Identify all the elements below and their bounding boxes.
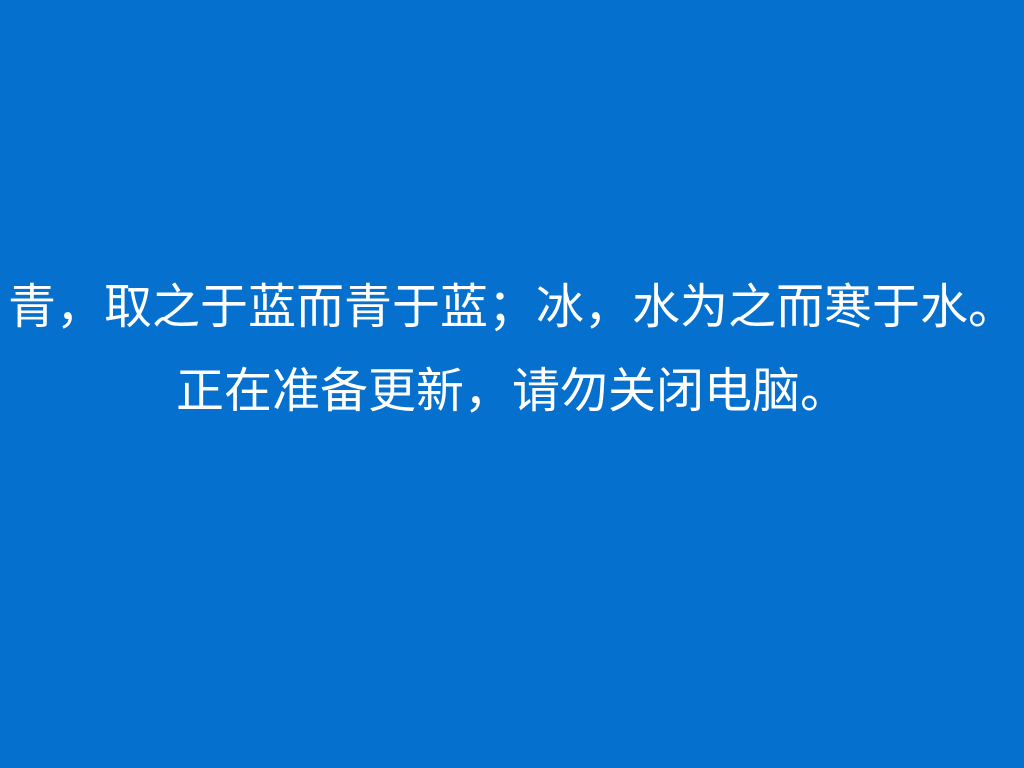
quote-text: 青，取之于蓝而青于蓝；冰，水为之而寒于水。 — [0, 272, 1024, 342]
update-status-text: 正在准备更新，请勿关闭电脑。 — [0, 356, 1024, 426]
update-screen: 青，取之于蓝而青于蓝；冰，水为之而寒于水。 正在准备更新，请勿关闭电脑。 — [0, 0, 1024, 768]
message-block: 青，取之于蓝而青于蓝；冰，水为之而寒于水。 正在准备更新，请勿关闭电脑。 — [0, 272, 1024, 426]
